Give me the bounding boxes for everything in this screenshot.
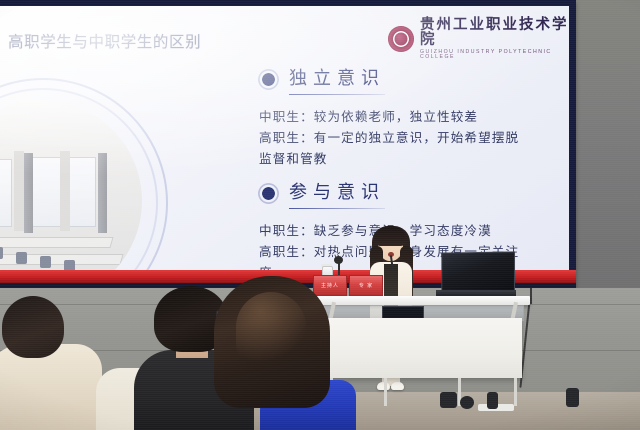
classroom-chair <box>16 252 27 264</box>
projection-screen-frame: 高职学生与中职学生的区别 贵州工业职业技术学院 GUIZHOU INDUSTRY… <box>0 0 576 288</box>
section-heading-row: 独立意识 <box>258 64 519 94</box>
classroom-photo <box>0 100 142 282</box>
lecture-hall-photo: 高职学生与中职学生的区别 贵州工业职业技术学院 GUIZHOU INDUSTRY… <box>0 0 640 430</box>
classroom-chair <box>0 247 3 259</box>
section-heading-row: 参与意识 <box>258 178 519 208</box>
section-body: 中职生：较为依赖老师，独立性较差 高职生：有一定的独立意识，开始希望摆脱 监督和… <box>259 107 519 170</box>
classroom-curtain <box>24 153 33 234</box>
body-line: 高职生：有一定的独立意识，开始希望摆脱 <box>259 128 519 149</box>
classroom-pillar <box>60 151 70 232</box>
mic-head-icon <box>334 256 343 264</box>
audience-hair-highlight <box>236 292 306 378</box>
right-wall-panel <box>576 0 640 300</box>
college-logo: 贵州工业职业技术学院 GUIZHOU INDUSTRY POLYTECHNIC … <box>388 18 569 60</box>
audience-member-left <box>0 296 110 430</box>
nameplate-expert-label: 专 家 <box>359 282 373 289</box>
laptop-icon <box>441 251 515 291</box>
classroom-window <box>68 157 96 228</box>
classroom-pillar <box>14 151 24 232</box>
power-cable <box>530 288 532 304</box>
slide-title: 高职学生与中职学生的区别 <box>8 30 201 52</box>
classroom-window <box>0 159 12 228</box>
floor-equipment <box>440 392 457 408</box>
body-line: 中职生：较为依赖老师，独立性较差 <box>259 107 519 128</box>
desk-leg <box>384 378 387 406</box>
college-name-en: GUIZHOU INDUSTRY POLYTECHNIC COLLEGE <box>420 50 569 60</box>
audience-hair <box>2 296 64 358</box>
floor-equipment <box>460 396 474 409</box>
classroom-desk-row <box>0 237 114 248</box>
college-seal-icon <box>388 26 414 52</box>
presenter-shoe <box>391 382 404 390</box>
classroom-chair <box>40 256 51 268</box>
slide-section-independence: 独立意识 中职生：较为依赖老师，独立性较差 高职生：有一定的独立意识，开始希望摆… <box>258 64 519 170</box>
presenter-hair-top <box>375 226 406 246</box>
desk-leg <box>514 378 517 406</box>
audience-member-right <box>196 276 356 430</box>
college-logo-text: 贵州工业职业技术学院 GUIZHOU INDUSTRY POLYTECHNIC … <box>420 18 569 60</box>
section-heading: 参与意识 <box>289 178 385 208</box>
floor-equipment <box>566 388 579 407</box>
classroom-scene <box>0 100 142 282</box>
college-name-cn: 贵州工业职业技术学院 <box>420 18 569 47</box>
audience-body <box>0 344 102 430</box>
classroom-photo-circle <box>0 78 170 282</box>
body-line: 监督和管教 <box>259 149 519 170</box>
classroom-ceiling <box>0 100 142 153</box>
section-heading: 独立意识 <box>289 64 385 94</box>
classroom-curtain <box>98 153 107 234</box>
filled-circle-icon <box>258 183 279 204</box>
projection-screen: 高职学生与中职学生的区别 贵州工业职业技术学院 GUIZHOU INDUSTRY… <box>0 6 569 282</box>
floor-equipment <box>487 392 498 409</box>
filled-circle-icon <box>258 69 279 90</box>
